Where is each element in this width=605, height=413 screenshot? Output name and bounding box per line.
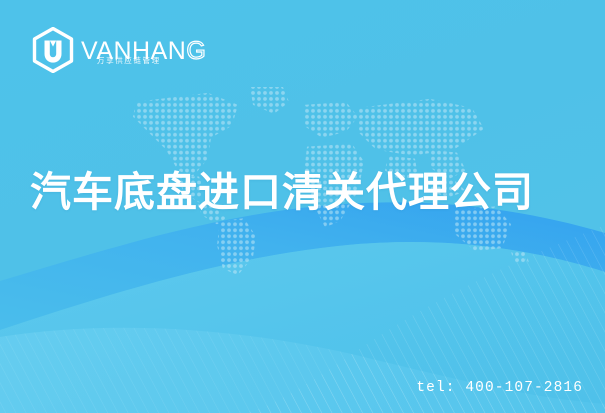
brand-wordmark: VANHANG 万享供应链管理 xyxy=(81,37,206,64)
brand-subtitle: 万享供应链管理 xyxy=(97,57,161,65)
contact-phone[interactable]: tel: 400-107-2816 xyxy=(416,380,583,396)
promo-banner: VANHANG 万享供应链管理 汽车底盘进口清关代理公司 tel: 400-10… xyxy=(0,0,605,413)
hexagon-u-mark-icon xyxy=(31,27,75,73)
brand-logo[interactable]: VANHANG 万享供应链管理 xyxy=(31,27,206,73)
page-title: 汽车底盘进口清关代理公司 xyxy=(30,168,534,216)
brand-wordmark-outline-g: G xyxy=(186,37,206,65)
